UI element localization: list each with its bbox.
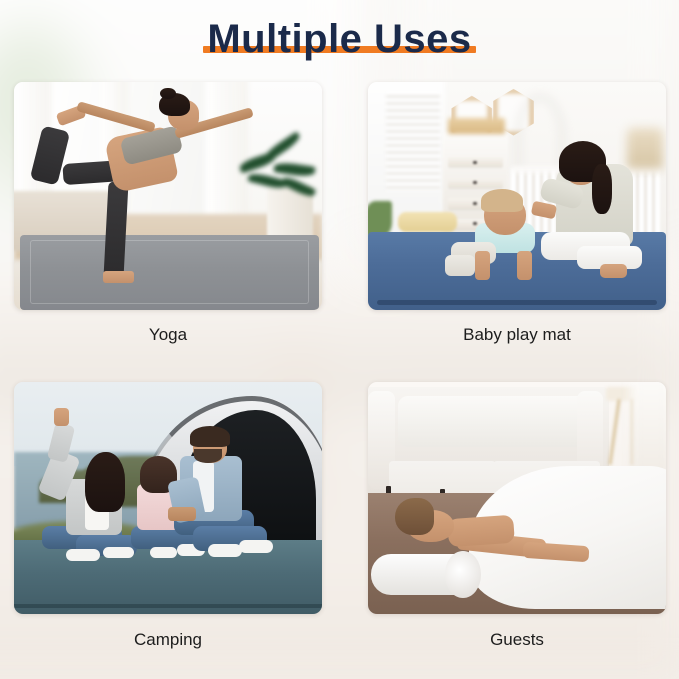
baby-play-mat-caption: Baby play mat — [368, 325, 666, 345]
camping-image-card[interactable] — [14, 382, 322, 614]
yoga-image-card[interactable] — [14, 82, 322, 310]
baby-play-mat-image-card[interactable] — [368, 82, 666, 310]
use-case-camping: Camping — [14, 382, 322, 660]
guests-scene — [368, 382, 666, 614]
use-case-guests: Guests — [368, 382, 666, 660]
page-title-text: Multiple Uses — [207, 19, 471, 59]
use-case-baby-play-mat: Baby play mat — [368, 82, 666, 360]
yoga-figure — [14, 82, 322, 310]
camping-caption: Camping — [14, 630, 322, 650]
guests-bolster-end — [445, 551, 481, 597]
guests-caption: Guests — [368, 630, 666, 650]
uses-grid: Yoga — [0, 0, 679, 679]
nursery-baby — [368, 82, 666, 310]
baby-play-mat-scene — [368, 82, 666, 310]
camping-man — [14, 382, 322, 614]
page-title: Multiple Uses — [0, 8, 679, 70]
guests-image-card[interactable] — [368, 382, 666, 614]
yoga-scene — [14, 82, 322, 310]
camping-scene — [14, 382, 322, 614]
use-case-yoga: Yoga — [14, 82, 322, 360]
yoga-caption: Yoga — [14, 325, 322, 345]
